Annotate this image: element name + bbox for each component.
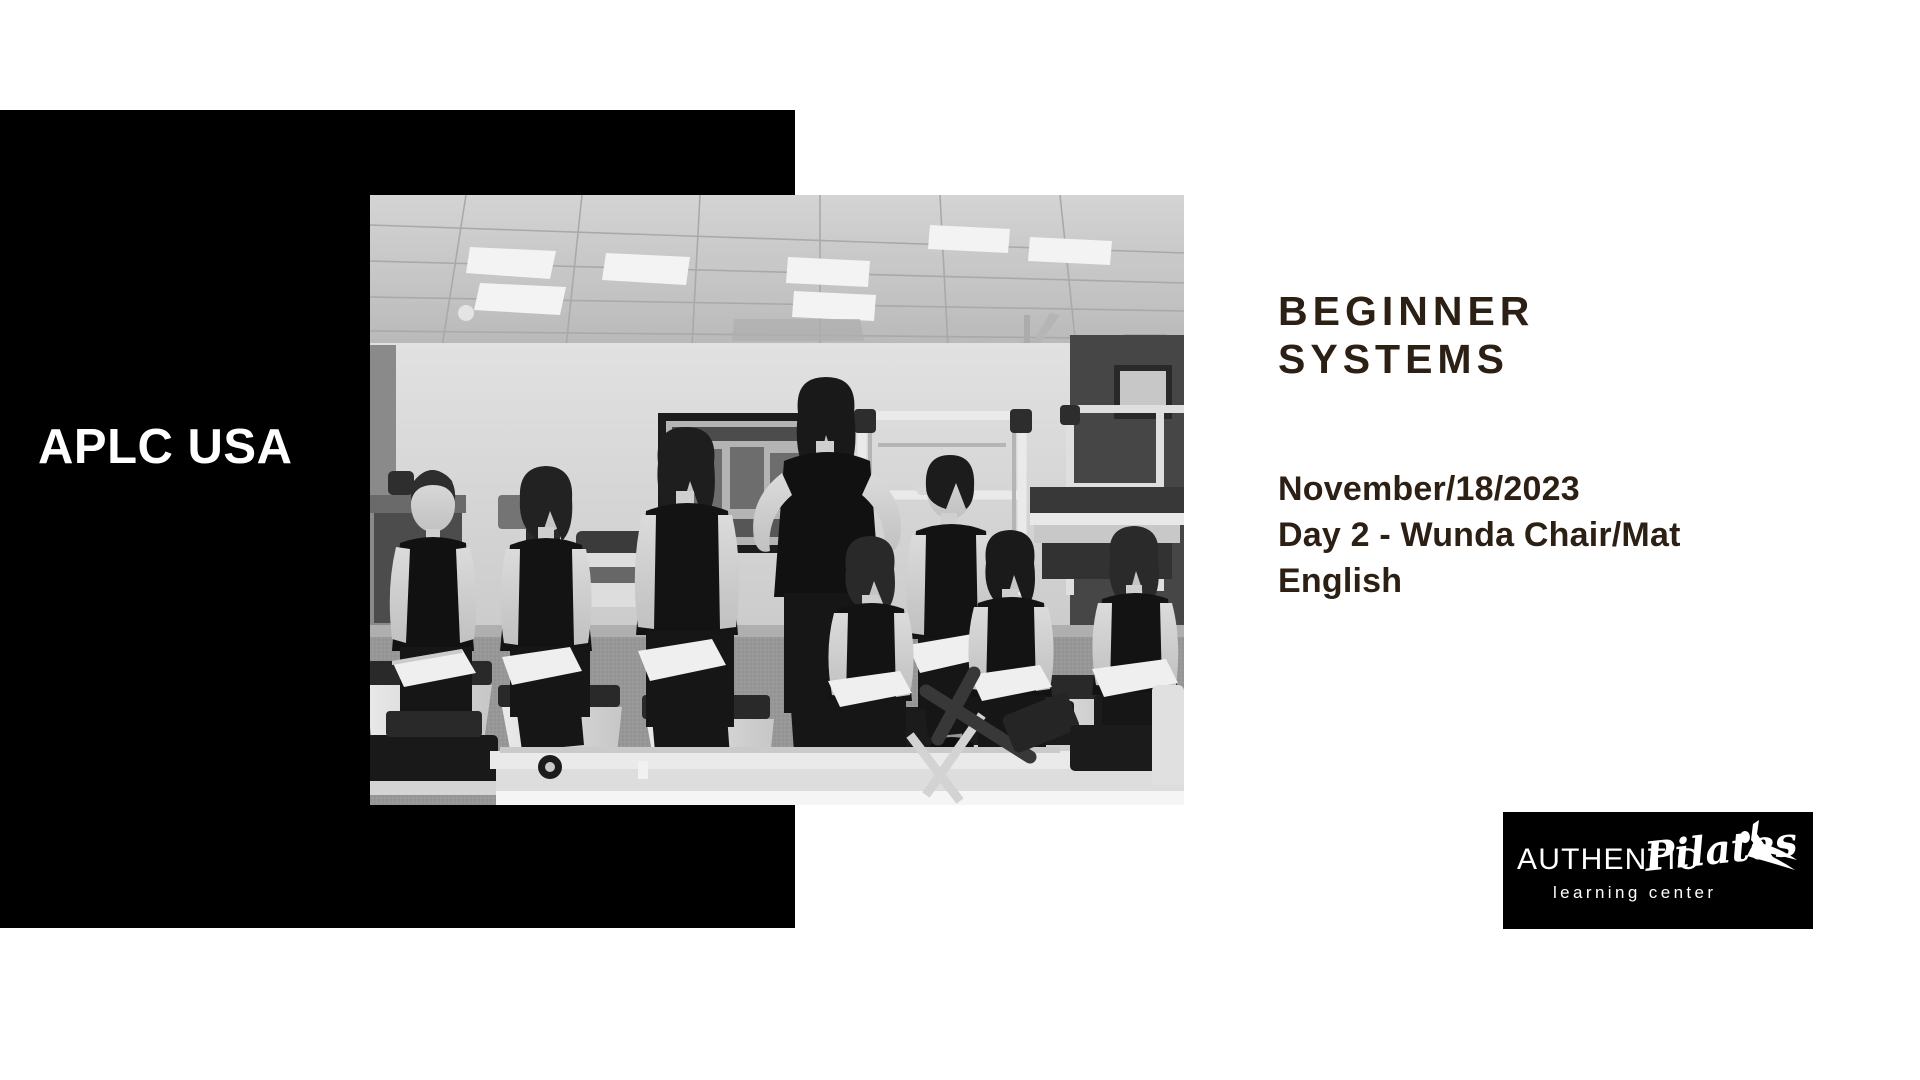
headline-line-2: SYSTEMS bbox=[1278, 336, 1858, 384]
slide-canvas: APLC USA bbox=[0, 0, 1920, 1080]
studio-photo-image: EXIT bbox=[370, 195, 1184, 805]
studio-photo: EXIT bbox=[370, 195, 1184, 805]
session-topic: Day 2 - Wunda Chair/Mat bbox=[1278, 512, 1878, 558]
brand-label: APLC USA bbox=[38, 423, 292, 472]
logo-inner: AUTHENTIC Pilates learning center bbox=[1503, 812, 1813, 929]
page-title: BEGINNER SYSTEMS bbox=[1278, 288, 1858, 384]
logo-tagline: learning center bbox=[1553, 884, 1716, 901]
headline-line-1: BEGINNER bbox=[1278, 288, 1858, 336]
session-details: November/18/2023 Day 2 - Wunda Chair/Mat… bbox=[1278, 466, 1878, 605]
pilates-figure-icon bbox=[1715, 820, 1801, 876]
session-language: English bbox=[1278, 558, 1878, 604]
authentic-pilates-logo: AUTHENTIC Pilates learning center bbox=[1503, 812, 1813, 929]
session-date: November/18/2023 bbox=[1278, 466, 1878, 512]
